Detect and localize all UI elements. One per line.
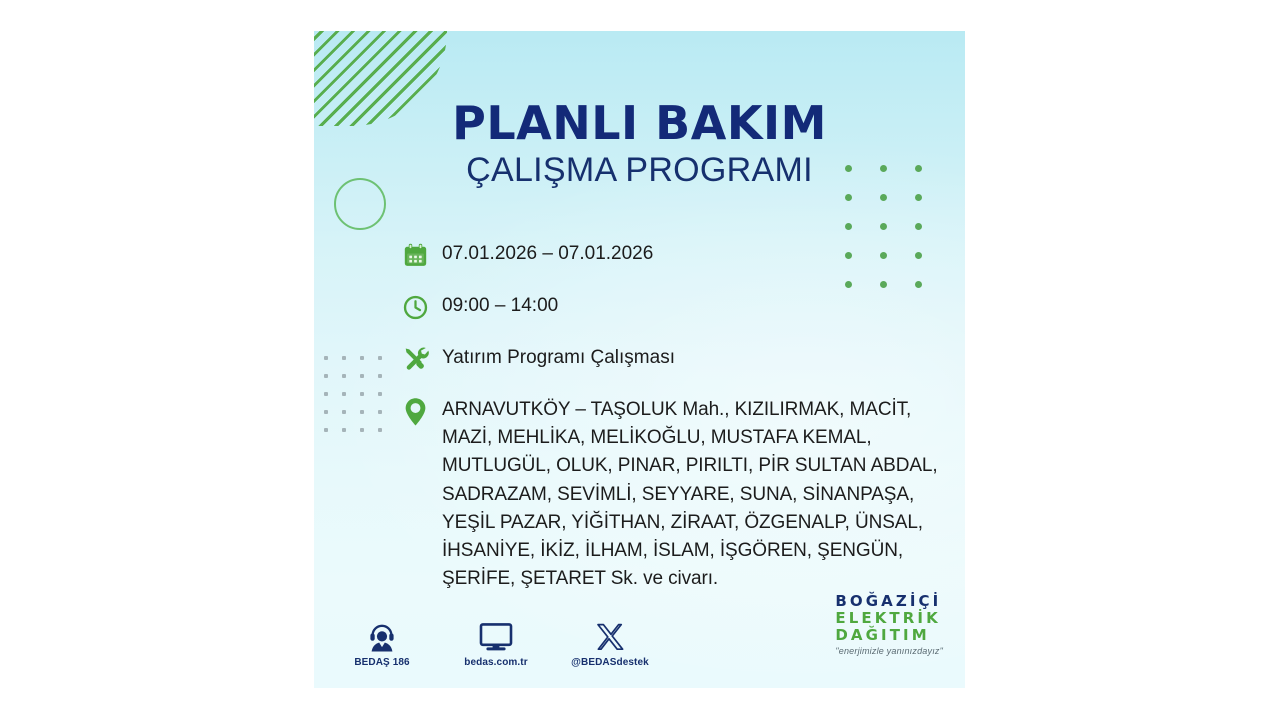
clock-icon: [402, 290, 442, 324]
address-line: SADRAZAM, SEVİMLİ, SEYYARE, SUNA, SİNANP…: [442, 484, 914, 505]
address-line: MAZİ, MEHLİKA, MELİKOĞLU, MUSTAFA KEMAL,: [442, 427, 872, 448]
header-titles: PLANLI BAKIM ÇALIŞMA PROGRAMI: [314, 99, 965, 190]
card-footer: BEDAŞ 186 bedas.com.tr: [314, 596, 965, 668]
address-line: ŞERİFE, ŞETARET Sk. ve civarı.: [442, 568, 718, 589]
address-line: YEŞİL PAZAR, YİĞİTHAN, ZİRAAT, ÖZGENALP,…: [442, 512, 923, 533]
address-line: ARNAVUTKÖY – TAŞOLUK Mah., KIZILIRMAK, M…: [442, 399, 911, 420]
monitor-website-icon: [456, 616, 536, 652]
x-twitter-icon: [570, 616, 650, 652]
logo-tagline: "enerjimizle yanınızdayız": [835, 647, 943, 656]
address-line: İHSANİYE, İKİZ, İLHAM, İSLAM, İŞGÖREN, Ş…: [442, 540, 903, 561]
address-line: MUTLUGÜL, OLUK, PINAR, PIRILTI, PİR SULT…: [442, 455, 938, 476]
contact-channels: BEDAŞ 186 bedas.com.tr: [342, 616, 650, 668]
screenshot-root: PLANLI BAKIM ÇALIŞMA PROGRAMI: [0, 0, 1280, 720]
location-pin-icon: [402, 394, 442, 428]
info-row-work-type: Yatırım Programı Çalışması: [402, 342, 941, 376]
work-type-value: Yatırım Programı Çalışması: [442, 342, 675, 372]
contact-label: @BEDASdestek: [570, 657, 650, 668]
location-address-text: ARNAVUTKÖY – TAŞOLUK Mah., KIZILIRMAK, M…: [442, 394, 938, 593]
info-list: 07.01.2026 – 07.01.2026 09:00 – 14:00: [402, 238, 941, 593]
maintenance-notice-card: PLANLI BAKIM ÇALIŞMA PROGRAMI: [314, 31, 965, 688]
info-row-time: 09:00 – 14:00: [402, 290, 941, 324]
contact-website[interactable]: bedas.com.tr: [456, 616, 536, 668]
bedas-logo: BOĞAZİÇİ ELEKTRİK DAĞITIM "enerjimizle y…: [835, 594, 943, 656]
time-range-value: 09:00 – 14:00: [442, 290, 558, 320]
logo-line-elektrik: ELEKTRİK: [835, 611, 943, 626]
headset-support-icon: [342, 616, 422, 652]
info-row-date: 07.01.2026 – 07.01.2026: [402, 238, 941, 272]
info-row-location: ARNAVUTKÖY – TAŞOLUK Mah., KIZILIRMAK, M…: [402, 394, 941, 593]
page-subtitle: ÇALIŞMA PROGRAMI: [314, 151, 965, 190]
contact-label: bedas.com.tr: [456, 657, 536, 668]
page-title: PLANLI BAKIM: [314, 99, 965, 147]
contact-label: BEDAŞ 186: [342, 657, 422, 668]
logo-line-bogazici: BOĞAZİÇİ: [835, 594, 943, 609]
contact-call-center[interactable]: BEDAŞ 186: [342, 616, 422, 668]
contact-x-account[interactable]: @BEDASdestek: [570, 616, 650, 668]
gray-dot-grid-decoration: [324, 356, 396, 446]
logo-line-dagitim: DAĞITIM: [835, 628, 943, 643]
calendar-icon: [402, 238, 442, 272]
date-range-value: 07.01.2026 – 07.01.2026: [442, 238, 653, 268]
tools-icon: [402, 342, 442, 376]
